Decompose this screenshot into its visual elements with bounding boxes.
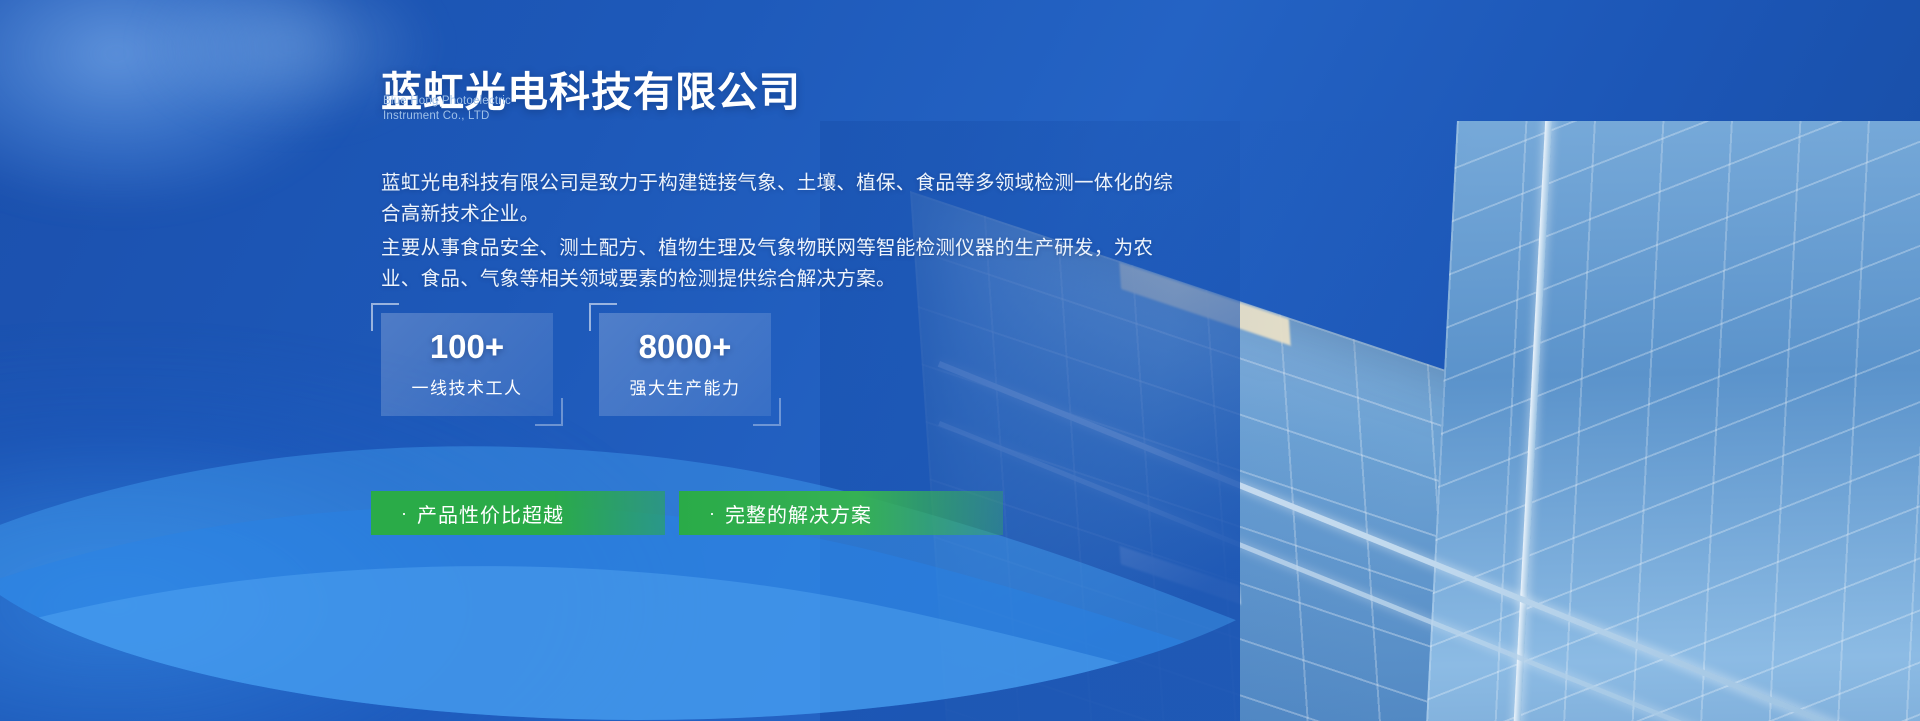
stats-group: 100+ 一线技术工人 8000+ 强大生产能力	[381, 313, 771, 416]
feature-tag-solution[interactable]: · 完整的解决方案	[679, 491, 1003, 535]
description-paragraph-1: 蓝虹光电科技有限公司是致力于构建链接气象、土壤、植保、食品等多领域检测一体化的综…	[381, 168, 1181, 230]
company-name-en-line1: Blue Hong Photoelectric	[383, 94, 511, 109]
description-paragraph-2: 主要从事食品安全、测土配方、植物生理及气象物联网等智能检测仪器的生产研发，为农业…	[381, 233, 1181, 295]
stat-label: 强大生产能力	[630, 374, 741, 399]
feature-tag-label: 产品性价比超越	[417, 499, 564, 528]
hero-banner: 蓝虹光电科技有限公司 Blue Hong Photoelectric Instr…	[0, 0, 1920, 721]
feature-tag-value[interactable]: · 产品性价比超越	[371, 491, 665, 535]
bullet-icon: ·	[709, 504, 716, 522]
hero-content: 蓝虹光电科技有限公司 Blue Hong Photoelectric Instr…	[0, 0, 1920, 721]
bullet-icon: ·	[401, 504, 408, 522]
stat-value: 100+	[430, 330, 504, 363]
feature-tag-label: 完整的解决方案	[725, 499, 872, 528]
company-name-en: Blue Hong Photoelectric Instrument Co., …	[383, 94, 511, 124]
feature-tags-group: · 产品性价比超越 · 完整的解决方案	[371, 491, 1003, 535]
company-name-en-line2: Instrument Co., LTD	[383, 109, 511, 124]
stat-card-workers: 100+ 一线技术工人	[381, 313, 553, 416]
stat-card-capacity: 8000+ 强大生产能力	[599, 313, 771, 416]
stat-value: 8000+	[639, 330, 732, 363]
stat-label: 一线技术工人	[412, 374, 523, 399]
